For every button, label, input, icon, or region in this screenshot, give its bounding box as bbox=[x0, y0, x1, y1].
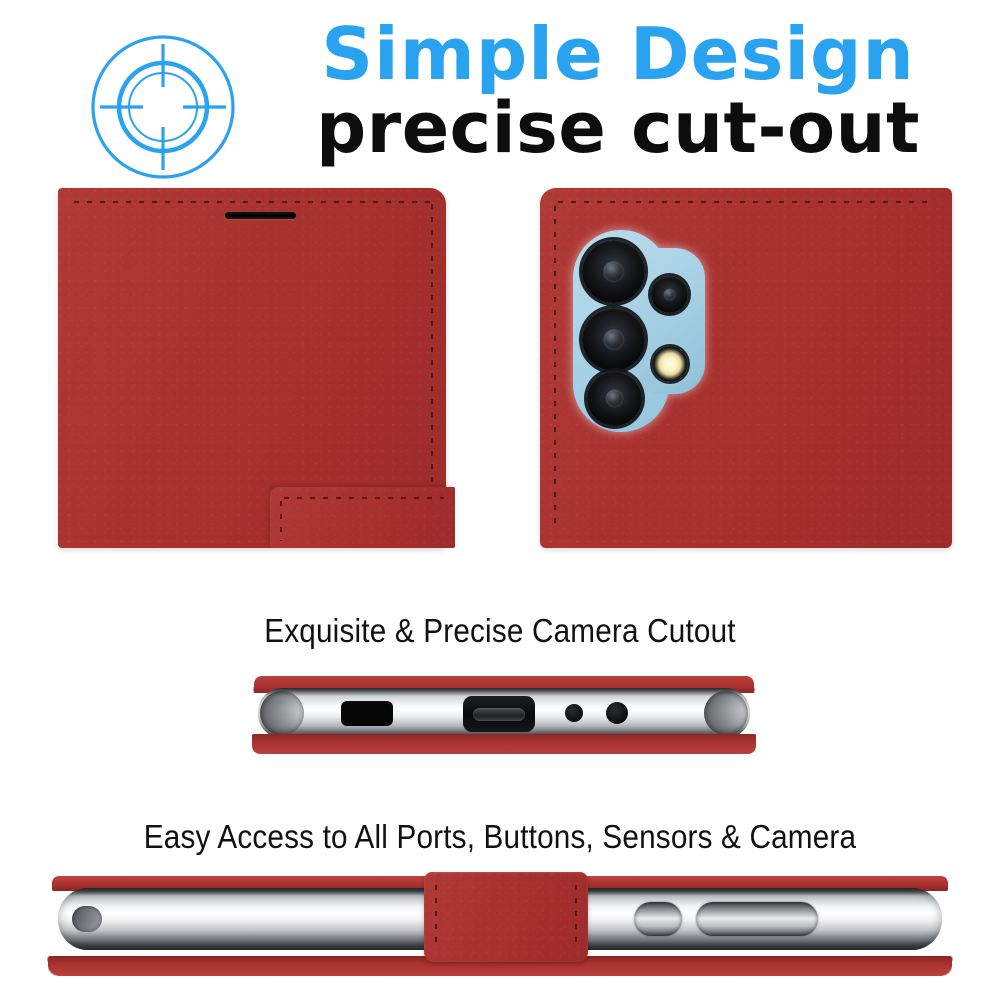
stitch-line-flap-top bbox=[284, 497, 444, 499]
microphone-hole bbox=[565, 704, 583, 722]
frame-corner-left bbox=[260, 691, 304, 735]
phone-bottom-frame bbox=[258, 688, 750, 738]
stitch-line-top bbox=[558, 201, 934, 203]
phone-case-back-cover bbox=[540, 188, 952, 548]
depth-lens bbox=[651, 276, 688, 313]
led-flash bbox=[652, 346, 688, 382]
caption-camera-cutout: Exquisite & Precise Camera Cutout bbox=[50, 612, 950, 650]
page-title-secondary: precise cut-out bbox=[258, 90, 978, 166]
stitch-line-right bbox=[431, 204, 433, 504]
page-title-primary: Simple Design bbox=[258, 14, 978, 94]
macro-lens bbox=[587, 371, 642, 426]
stitch-line-left bbox=[554, 206, 556, 524]
main-lens bbox=[582, 240, 645, 303]
side-speaker-cutout bbox=[72, 906, 102, 932]
case-edge-bottom-lip bbox=[252, 734, 756, 754]
speaker-grille-hole bbox=[606, 702, 628, 724]
stitch-line-strap-right bbox=[575, 885, 577, 947]
bottom-edge-view bbox=[248, 676, 760, 754]
stitch-line-top bbox=[74, 201, 430, 203]
stitch-line-strap-left bbox=[435, 885, 437, 947]
headline-block: Simple Design precise cut-out bbox=[258, 14, 978, 184]
side-edge-view bbox=[42, 872, 958, 982]
cases-showcase-row bbox=[0, 186, 1000, 566]
phone-case-front-cover bbox=[58, 188, 446, 548]
product-marketing-image: Simple Design precise cut-out bbox=[0, 0, 1000, 1000]
caption-ports-access: Easy Access to All Ports, Buttons, Senso… bbox=[50, 818, 950, 856]
target-crosshair-icon bbox=[88, 32, 238, 182]
magnetic-strap bbox=[424, 872, 588, 962]
header-banner: Simple Design precise cut-out bbox=[0, 0, 1000, 185]
frame-corner-right bbox=[704, 691, 748, 735]
headphone-jack bbox=[341, 701, 393, 726]
earpiece-speaker-slot bbox=[225, 212, 296, 219]
volume-rocker-cutout bbox=[696, 902, 818, 936]
stitch-line-flap-left bbox=[280, 501, 282, 541]
camera-module-cutout bbox=[573, 230, 705, 432]
power-button-cutout bbox=[634, 902, 682, 936]
usb-c-port bbox=[463, 696, 535, 732]
ultra-wide-lens bbox=[582, 308, 645, 371]
card-slot-flap bbox=[270, 487, 455, 548]
